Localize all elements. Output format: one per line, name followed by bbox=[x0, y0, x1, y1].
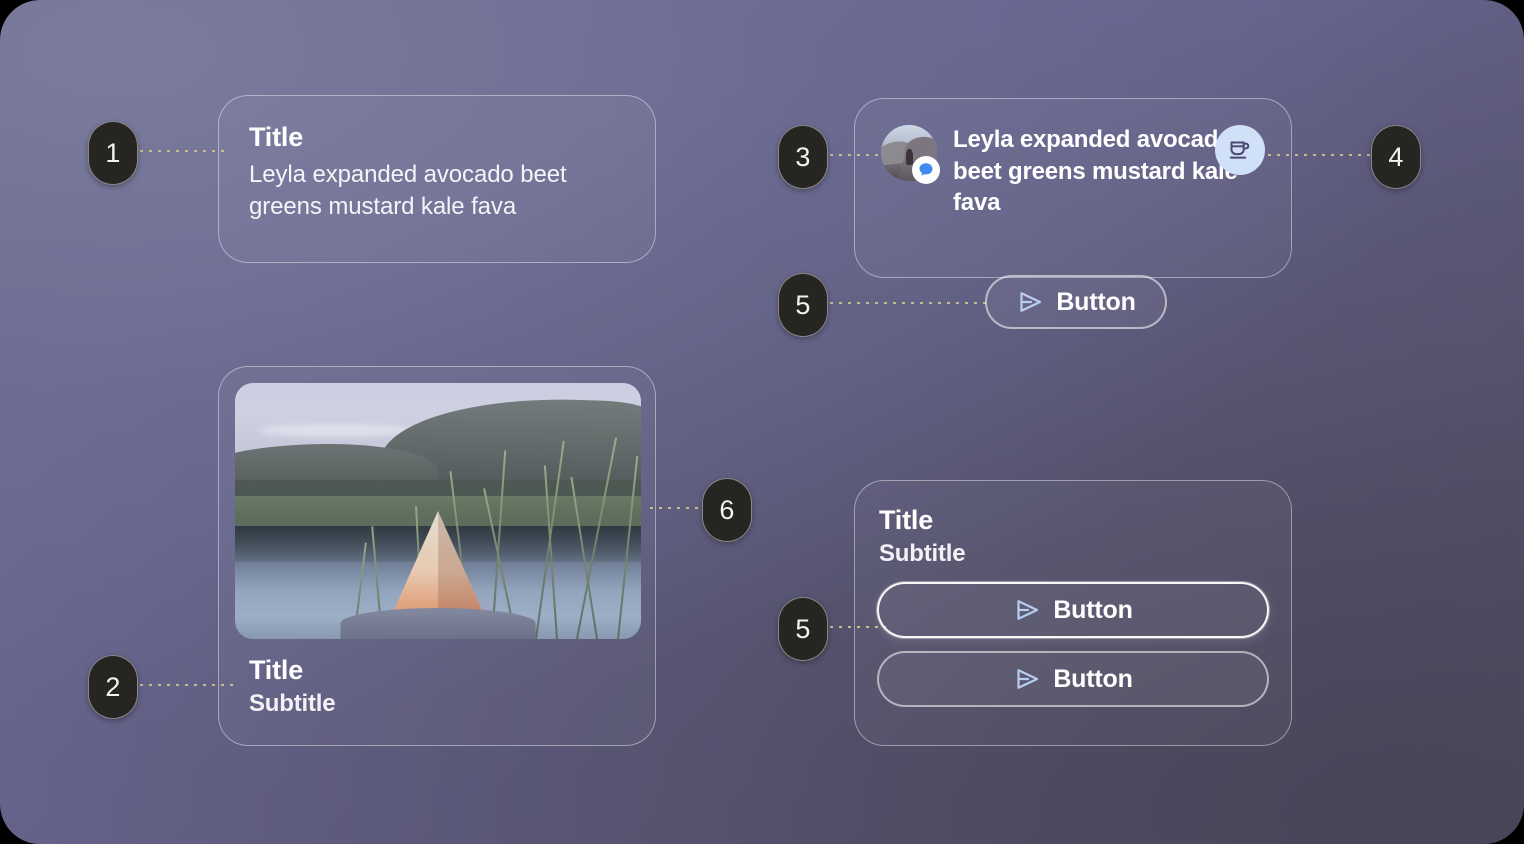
send-icon bbox=[1013, 665, 1041, 693]
annotation-badge-5-actions-label: 5 bbox=[795, 614, 810, 645]
annotation-badge-5-actions[interactable]: 5 bbox=[778, 597, 828, 661]
annotation-badge-3-label: 3 bbox=[795, 142, 810, 173]
annotation-badge-3[interactable]: 3 bbox=[778, 125, 828, 189]
message-card-button-label: Button bbox=[1056, 288, 1135, 317]
message-card-avatar[interactable] bbox=[881, 125, 937, 181]
send-icon bbox=[1016, 288, 1044, 316]
annotation-badge-2-label: 2 bbox=[105, 672, 120, 703]
media-card[interactable]: Title Subtitle bbox=[218, 366, 656, 746]
actions-card-primary-button[interactable]: Button bbox=[877, 582, 1269, 638]
annotation-badge-1-label: 1 bbox=[105, 138, 120, 169]
actions-card[interactable]: Title Subtitle Button Button bbox=[854, 480, 1292, 746]
media-card-meta: Title Subtitle bbox=[235, 639, 639, 718]
coffee-cup-icon bbox=[1226, 136, 1254, 164]
annotation-badge-2[interactable]: 2 bbox=[88, 655, 138, 719]
media-card-subtitle: Subtitle bbox=[249, 690, 625, 718]
message-card[interactable]: Leyla expanded avocado beet greens musta… bbox=[854, 98, 1292, 278]
annotation-badge-5-message[interactable]: 5 bbox=[778, 273, 828, 337]
basic-card-body: Leyla expanded avocado beet greens musta… bbox=[249, 159, 625, 223]
connector-5a bbox=[830, 302, 992, 304]
message-card-button[interactable]: Button bbox=[985, 275, 1167, 329]
actions-card-secondary-button[interactable]: Button bbox=[877, 651, 1269, 707]
actions-card-secondary-button-label: Button bbox=[1053, 665, 1132, 694]
connector-6 bbox=[650, 507, 706, 509]
basic-card-title: Title bbox=[249, 122, 625, 153]
basic-card[interactable]: Title Leyla expanded avocado beet greens… bbox=[218, 95, 656, 263]
actions-card-primary-button-label: Button bbox=[1053, 596, 1132, 625]
message-card-action-icon[interactable] bbox=[1215, 125, 1265, 175]
actions-card-title: Title bbox=[879, 505, 1269, 536]
annotation-badge-4-label: 4 bbox=[1388, 142, 1403, 173]
avatar-figure bbox=[906, 149, 913, 166]
annotation-badge-6[interactable]: 6 bbox=[702, 478, 752, 542]
actions-card-subtitle: Subtitle bbox=[879, 540, 1269, 568]
photo-haze-overlay bbox=[235, 383, 641, 639]
annotation-badge-6-label: 6 bbox=[719, 495, 734, 526]
annotation-badge-4[interactable]: 4 bbox=[1371, 125, 1421, 189]
canvas: 1 2 3 4 5 5 6 Title Leyla expanded avoca… bbox=[0, 0, 1524, 844]
message-card-row: Leyla expanded avocado beet greens musta… bbox=[881, 123, 1265, 219]
media-card-image[interactable] bbox=[235, 383, 641, 639]
chat-bubble-icon bbox=[912, 156, 940, 184]
annotation-badge-5-message-label: 5 bbox=[795, 290, 810, 321]
annotation-badge-1[interactable]: 1 bbox=[88, 121, 138, 185]
send-icon bbox=[1013, 596, 1041, 624]
connector-1 bbox=[140, 150, 226, 152]
media-card-title: Title bbox=[249, 655, 625, 686]
